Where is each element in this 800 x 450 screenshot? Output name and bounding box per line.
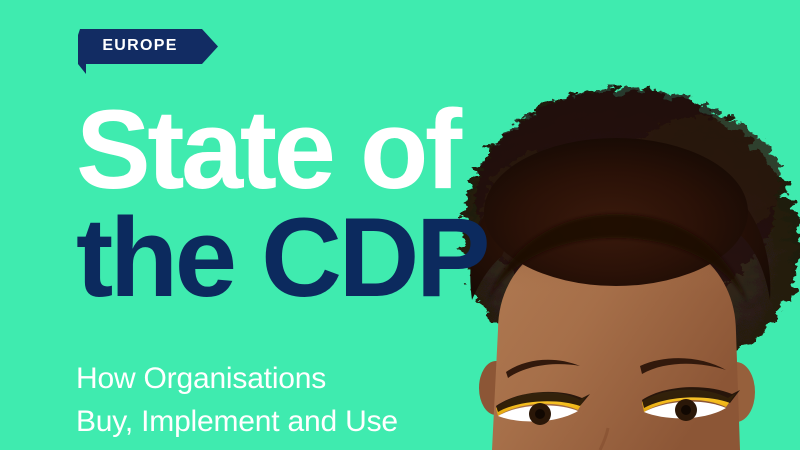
subtitle-line-1: How Organisations bbox=[76, 358, 398, 401]
portrait-illustration bbox=[440, 0, 800, 450]
subtitle-line-2: Buy, Implement and Use bbox=[76, 401, 398, 444]
headline-line-2: the CDP bbox=[76, 204, 487, 312]
headline-line-1: State of bbox=[76, 96, 487, 204]
cover-photo bbox=[440, 0, 800, 450]
report-cover: EUROPE State of the CDP How Organisation… bbox=[0, 0, 800, 450]
page-subtitle: How Organisations Buy, Implement and Use bbox=[76, 358, 398, 443]
region-badge[interactable]: EUROPE bbox=[76, 27, 222, 75]
badge-label: EUROPE bbox=[76, 27, 204, 64]
page-title: State of the CDP bbox=[76, 96, 487, 311]
